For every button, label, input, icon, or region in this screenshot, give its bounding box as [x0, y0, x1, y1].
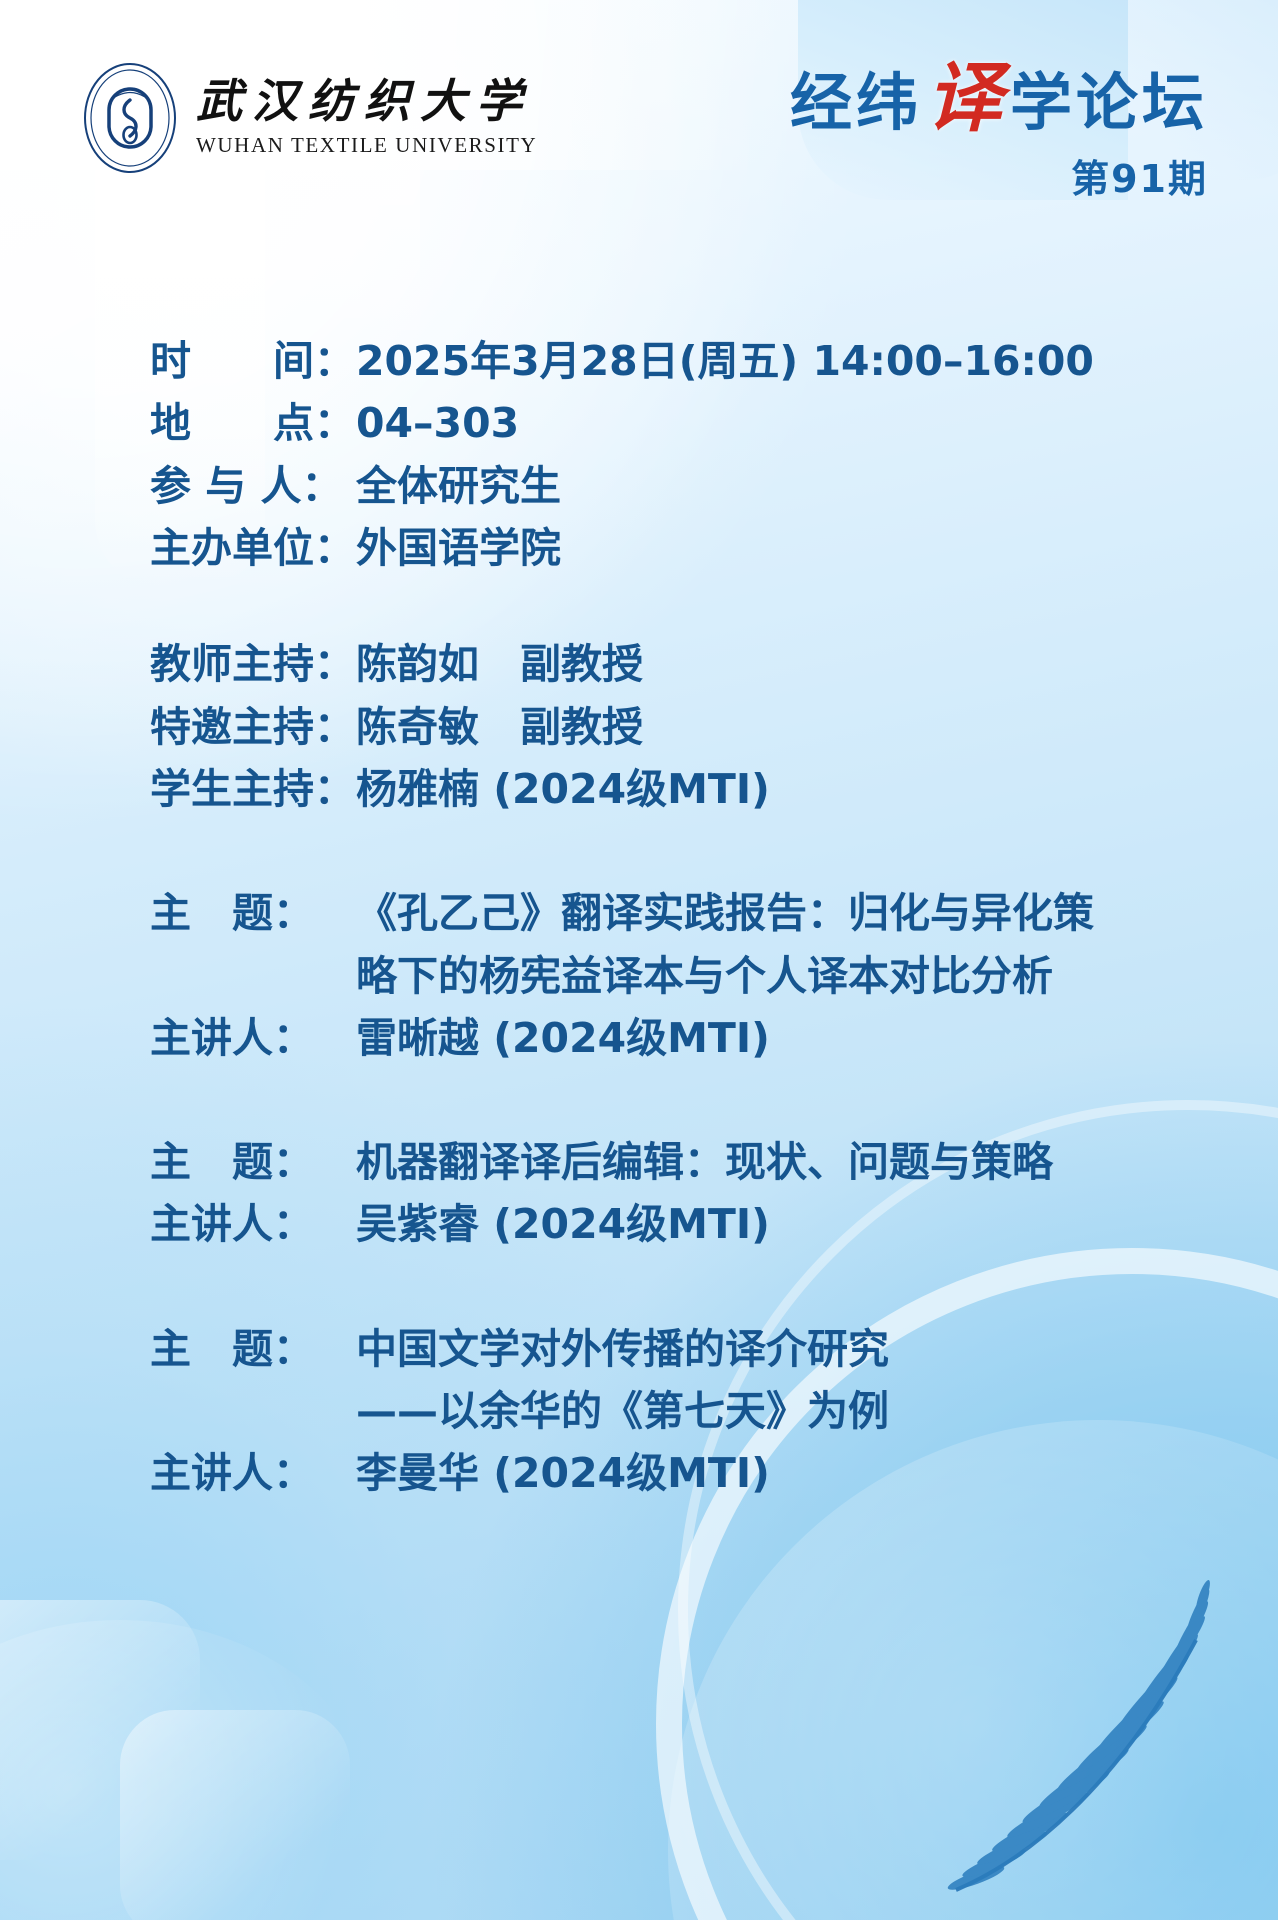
audience-label: 参 与 人： — [150, 455, 356, 517]
talk-1-speaker-value: 雷晰越 (2024级MTI) — [356, 1007, 770, 1069]
host-value-invited: 陈奇敏 副教授 — [356, 696, 643, 758]
info-row-place: 地 点： 04–303 — [150, 392, 1230, 454]
poster-content: 时 间： 2025年3月28日(周五) 14:00–16:00 地 点： 04–… — [150, 330, 1230, 1505]
forum-title-part2: 学论坛 — [1010, 66, 1208, 139]
time-label: 时 间： — [150, 330, 356, 392]
talk-2-speaker-row: 主讲人： 吴紫睿 (2024级MTI) — [150, 1193, 1230, 1255]
university-logo: 武汉纺织大学 WUHAN TEXTILE UNIVERSITY — [82, 62, 537, 174]
talk-2-topic-label: 主 题： — [150, 1131, 356, 1193]
talk-3-topic-row: 主 题： 中国文学对外传播的译介研究 — [150, 1318, 1230, 1380]
talk-2-speaker-value: 吴紫睿 (2024级MTI) — [356, 1193, 770, 1255]
forum-issue-number: 第91期 — [790, 148, 1208, 203]
host-value-student: 杨雅楠 (2024级MTI) — [356, 758, 770, 820]
host-label-invited: 特邀主持： — [150, 696, 356, 758]
university-name-block: 武汉纺织大学 WUHAN TEXTILE UNIVERSITY — [196, 78, 537, 157]
talk-3-topic-row-2: ——以余华的《第七天》为例 — [150, 1380, 1230, 1442]
talk-3-speaker-value: 李曼华 (2024级MTI) — [356, 1442, 770, 1504]
host-label-student: 学生主持： — [150, 758, 356, 820]
decor-rounded-square-bottom-left — [0, 1600, 200, 1860]
forum-title-highlight: 译 — [922, 53, 1010, 142]
talk-3-topic-line1: 中国文学对外传播的译介研究 — [356, 1318, 889, 1380]
talk-2-speaker-label: 主讲人： — [150, 1193, 356, 1255]
forum-title: 经纬译学论坛 — [790, 60, 1208, 136]
talk-2-topic-line1: 机器翻译译后编辑：现状、问题与策略 — [356, 1131, 1053, 1193]
host-row-student: 学生主持： 杨雅楠 (2024级MTI) — [150, 758, 1230, 820]
host-row-teacher: 教师主持： 陈韵如 副教授 — [150, 633, 1230, 695]
talk-2-topic-row: 主 题： 机器翻译译后编辑：现状、问题与策略 — [150, 1131, 1230, 1193]
university-name-cn: 武汉纺织大学 — [196, 78, 537, 126]
talk-1-speaker-label: 主讲人： — [150, 1007, 356, 1069]
info-row-organizer: 主办单位： 外国语学院 — [150, 517, 1230, 579]
talk-1-topic-line1: 《孔乙己》翻译实践报告：归化与异化策 — [356, 882, 1094, 944]
talk-1-topic-line2: 略下的杨宪益译本与个人译本对比分析 — [356, 945, 1053, 1007]
university-seal-icon — [82, 62, 178, 174]
poster-header: 武汉纺织大学 WUHAN TEXTILE UNIVERSITY 经纬译学论坛 第… — [0, 0, 1278, 215]
talk-1-topic-row: 主 题： 《孔乙己》翻译实践报告：归化与异化策 — [150, 882, 1230, 944]
organizer-value: 外国语学院 — [356, 517, 561, 579]
talk-1-topic-label: 主 题： — [150, 882, 356, 944]
fern-leaf-icon — [936, 1560, 1266, 1920]
decor-blob-bottom-left — [0, 1620, 380, 1920]
time-value: 2025年3月28日(周五) 14:00–16:00 — [356, 330, 1094, 392]
spacer-before-talk-2 — [150, 1069, 1230, 1131]
university-name-en: WUHAN TEXTILE UNIVERSITY — [196, 133, 537, 158]
forum-title-block: 经纬译学论坛 第91期 — [790, 60, 1208, 203]
spacer-before-hosts — [150, 579, 1230, 633]
place-label: 地 点： — [150, 392, 356, 454]
talk-3-speaker-row: 主讲人： 李曼华 (2024级MTI) — [150, 1442, 1230, 1504]
decor-rounded-square-bottom-left-2 — [120, 1710, 350, 1920]
forum-title-part1: 经纬 — [790, 66, 922, 139]
info-row-audience: 参 与 人： 全体研究生 — [150, 455, 1230, 517]
talk-1-topic-row-2: 略下的杨宪益译本与个人译本对比分析 — [150, 945, 1230, 1007]
talk-3-topic-line2: ——以余华的《第七天》为例 — [356, 1380, 889, 1442]
spacer-before-talk-3 — [150, 1256, 1230, 1318]
host-label-teacher: 教师主持： — [150, 633, 356, 695]
host-row-invited: 特邀主持： 陈奇敏 副教授 — [150, 696, 1230, 758]
spacer-before-talk-1 — [150, 820, 1230, 882]
poster-canvas: 武汉纺织大学 WUHAN TEXTILE UNIVERSITY 经纬译学论坛 第… — [0, 0, 1278, 1920]
host-value-teacher: 陈韵如 副教授 — [356, 633, 643, 695]
place-value: 04–303 — [356, 392, 519, 454]
talk-3-topic-label: 主 题： — [150, 1318, 356, 1380]
info-row-time: 时 间： 2025年3月28日(周五) 14:00–16:00 — [150, 330, 1230, 392]
talk-1-speaker-row: 主讲人： 雷晰越 (2024级MTI) — [150, 1007, 1230, 1069]
audience-value: 全体研究生 — [356, 455, 561, 517]
organizer-label: 主办单位： — [150, 517, 356, 579]
talk-3-speaker-label: 主讲人： — [150, 1442, 356, 1504]
